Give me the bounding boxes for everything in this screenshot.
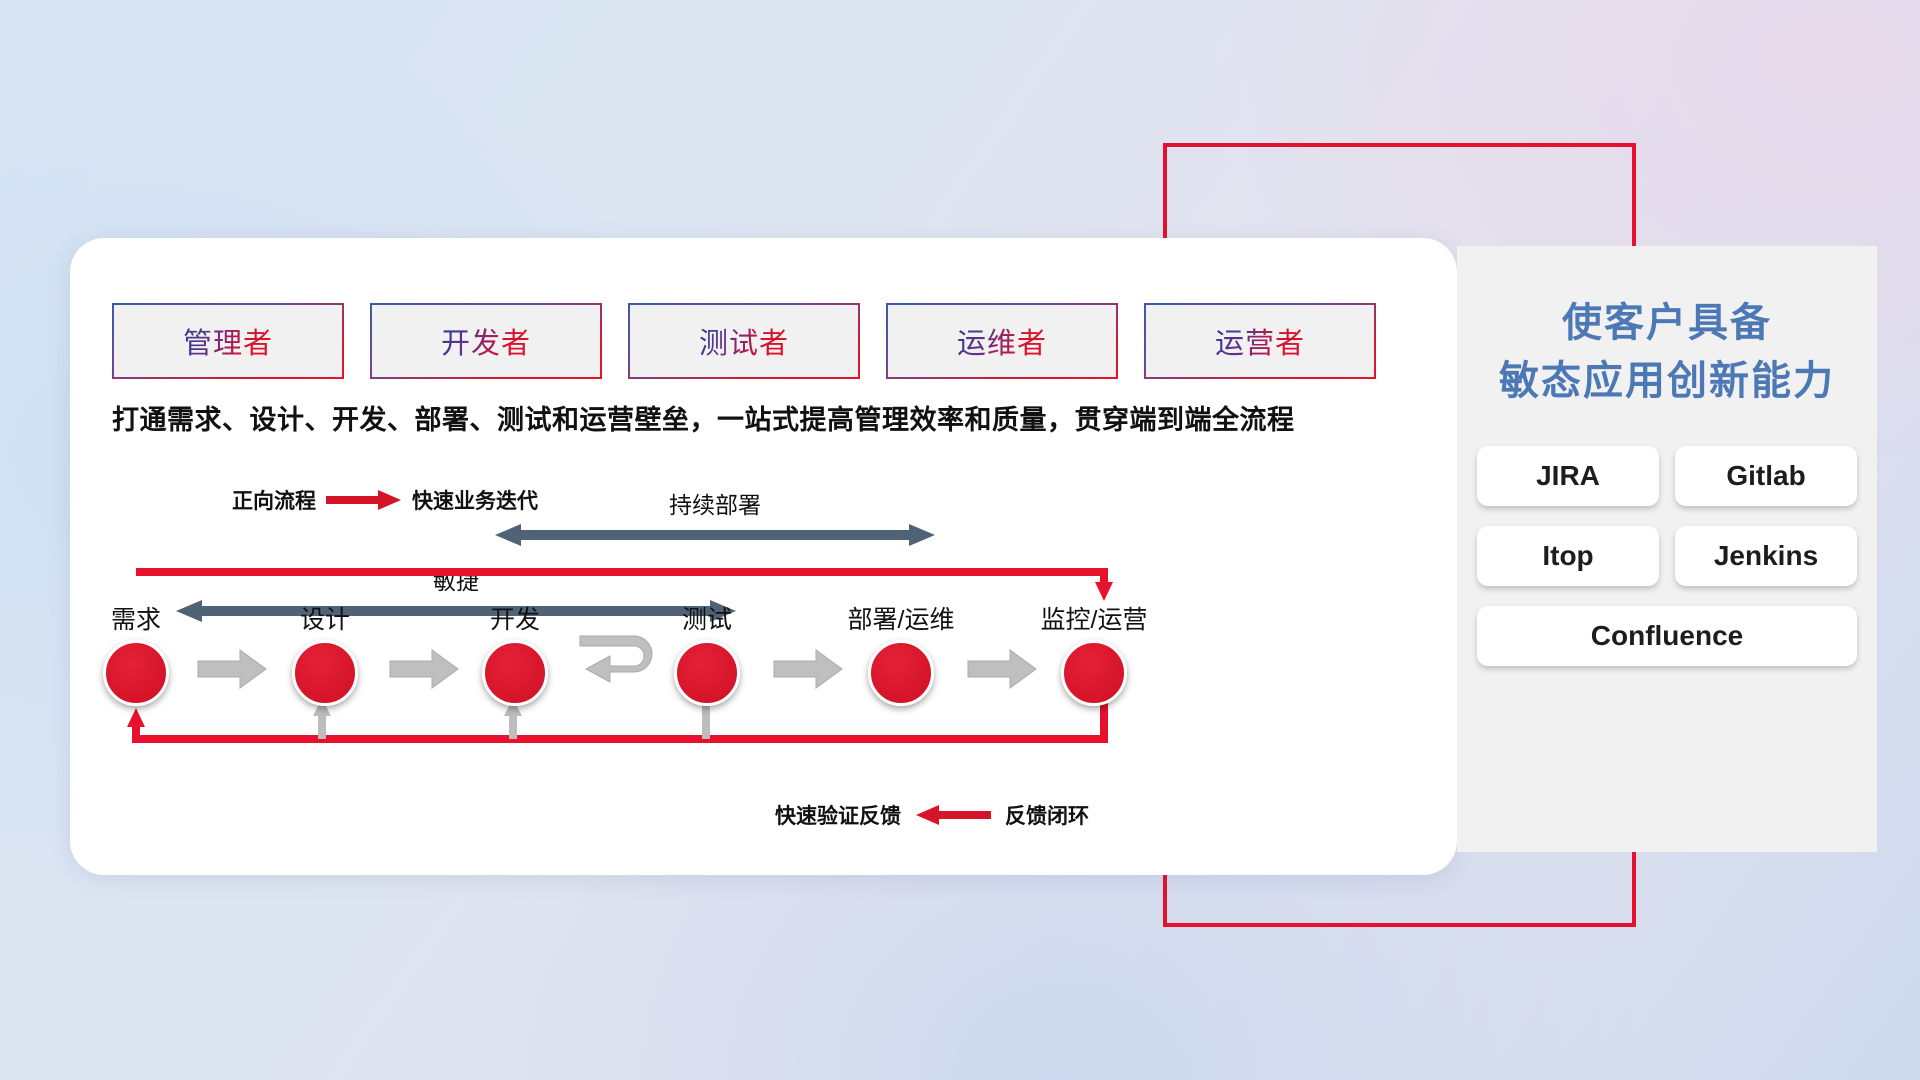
tool-chip-label: Jenkins [1714,540,1818,572]
span-continuous-deployment-label: 持续部署 [495,486,935,520]
role-label: 运营者 [1215,320,1305,362]
role-label: 管理者 [183,320,273,362]
stage-dot [868,640,934,706]
panel-title: 使客户具备 敏态应用创新能力 [1457,294,1877,410]
tool-chip-row: Itop Jenkins [1477,526,1857,586]
stage-label: 部署/运维 [826,600,976,636]
role-box-operations[interactable]: 运营者 [1144,303,1376,379]
stage-requirement[interactable]: 需求 [61,600,211,706]
pipeline-stages: 需求 设计 开发 测试 [0,600,1460,720]
stage-dot [1061,640,1127,706]
span-continuous-deployment: 持续部署 [495,522,935,548]
stage-label: 设计 [250,600,400,636]
stage-monitor-operations[interactable]: 监控/运营 [1019,600,1169,706]
stage-development[interactable]: 开发 [440,600,590,706]
tool-chip-gitlab[interactable]: Gitlab [1675,446,1857,506]
panel-title-line-2: 敏态应用创新能力 [1457,352,1877,410]
stage-deploy-ops[interactable]: 部署/运维 [826,600,976,706]
stage-label: 测试 [632,600,782,636]
stage-label: 需求 [61,600,211,636]
double-headed-arrow-icon [495,522,935,548]
role-box-ops[interactable]: 运维者 [886,303,1118,379]
red-right-arrow-icon [326,489,402,511]
legend-forward-flow: 正向流程 快速业务迭代 [232,485,538,515]
role-box-developer[interactable]: 开发者 [370,303,602,379]
tool-chip-itop[interactable]: Itop [1477,526,1659,586]
tool-chip-label: Gitlab [1726,460,1805,492]
role-label: 测试者 [699,320,789,362]
tool-chip-label: JIRA [1536,460,1600,492]
stage-design[interactable]: 设计 [250,600,400,706]
stage-label: 开发 [440,600,590,636]
red-left-arrow-icon [915,804,991,826]
stage-testing[interactable]: 测试 [632,600,782,706]
stage-dot [292,640,358,706]
span-agile-label: 敏捷 [176,562,736,596]
slide-canvas: 管理者 开发者 测试者 运维者 运营者 打通需求、设计、开发、部署、测试和运营壁… [0,0,1920,1080]
tool-chip-list: JIRA Gitlab Itop Jenkins Confluence [1477,446,1857,666]
tool-chip-label: Itop [1542,540,1593,572]
role-label: 开发者 [441,320,531,362]
stage-dot [103,640,169,706]
legend-feedback-target-label: 快速验证反馈 [775,800,901,830]
role-boxes: 管理者 开发者 测试者 运维者 运营者 [112,303,1376,379]
tool-chip-jenkins[interactable]: Jenkins [1675,526,1857,586]
tool-chip-row: Confluence [1477,606,1857,666]
tool-chip-row: JIRA Gitlab [1477,446,1857,506]
role-label: 运维者 [957,320,1047,362]
tool-chip-jira[interactable]: JIRA [1477,446,1659,506]
stage-label: 监控/运营 [1019,600,1169,636]
stage-dot [482,640,548,706]
outcome-panel: 使客户具备 敏态应用创新能力 JIRA Gitlab Itop Jenkins [1457,246,1877,852]
role-box-manager[interactable]: 管理者 [112,303,344,379]
tool-chip-label: Confluence [1591,620,1743,652]
panel-title-line-1: 使客户具备 [1457,294,1877,352]
legend-feedback-source-label: 反馈闭环 [1005,800,1089,830]
legend-forward-source-label: 正向流程 [232,485,316,515]
stage-dot [674,640,740,706]
legend-feedback-loop: 快速验证反馈 反馈闭环 [775,800,1089,830]
role-box-tester[interactable]: 测试者 [628,303,860,379]
value-statement: 打通需求、设计、开发、部署、测试和运营壁垒，一站式提高管理效率和质量，贯穿端到端… [112,398,1432,437]
tool-chip-confluence[interactable]: Confluence [1477,606,1857,666]
